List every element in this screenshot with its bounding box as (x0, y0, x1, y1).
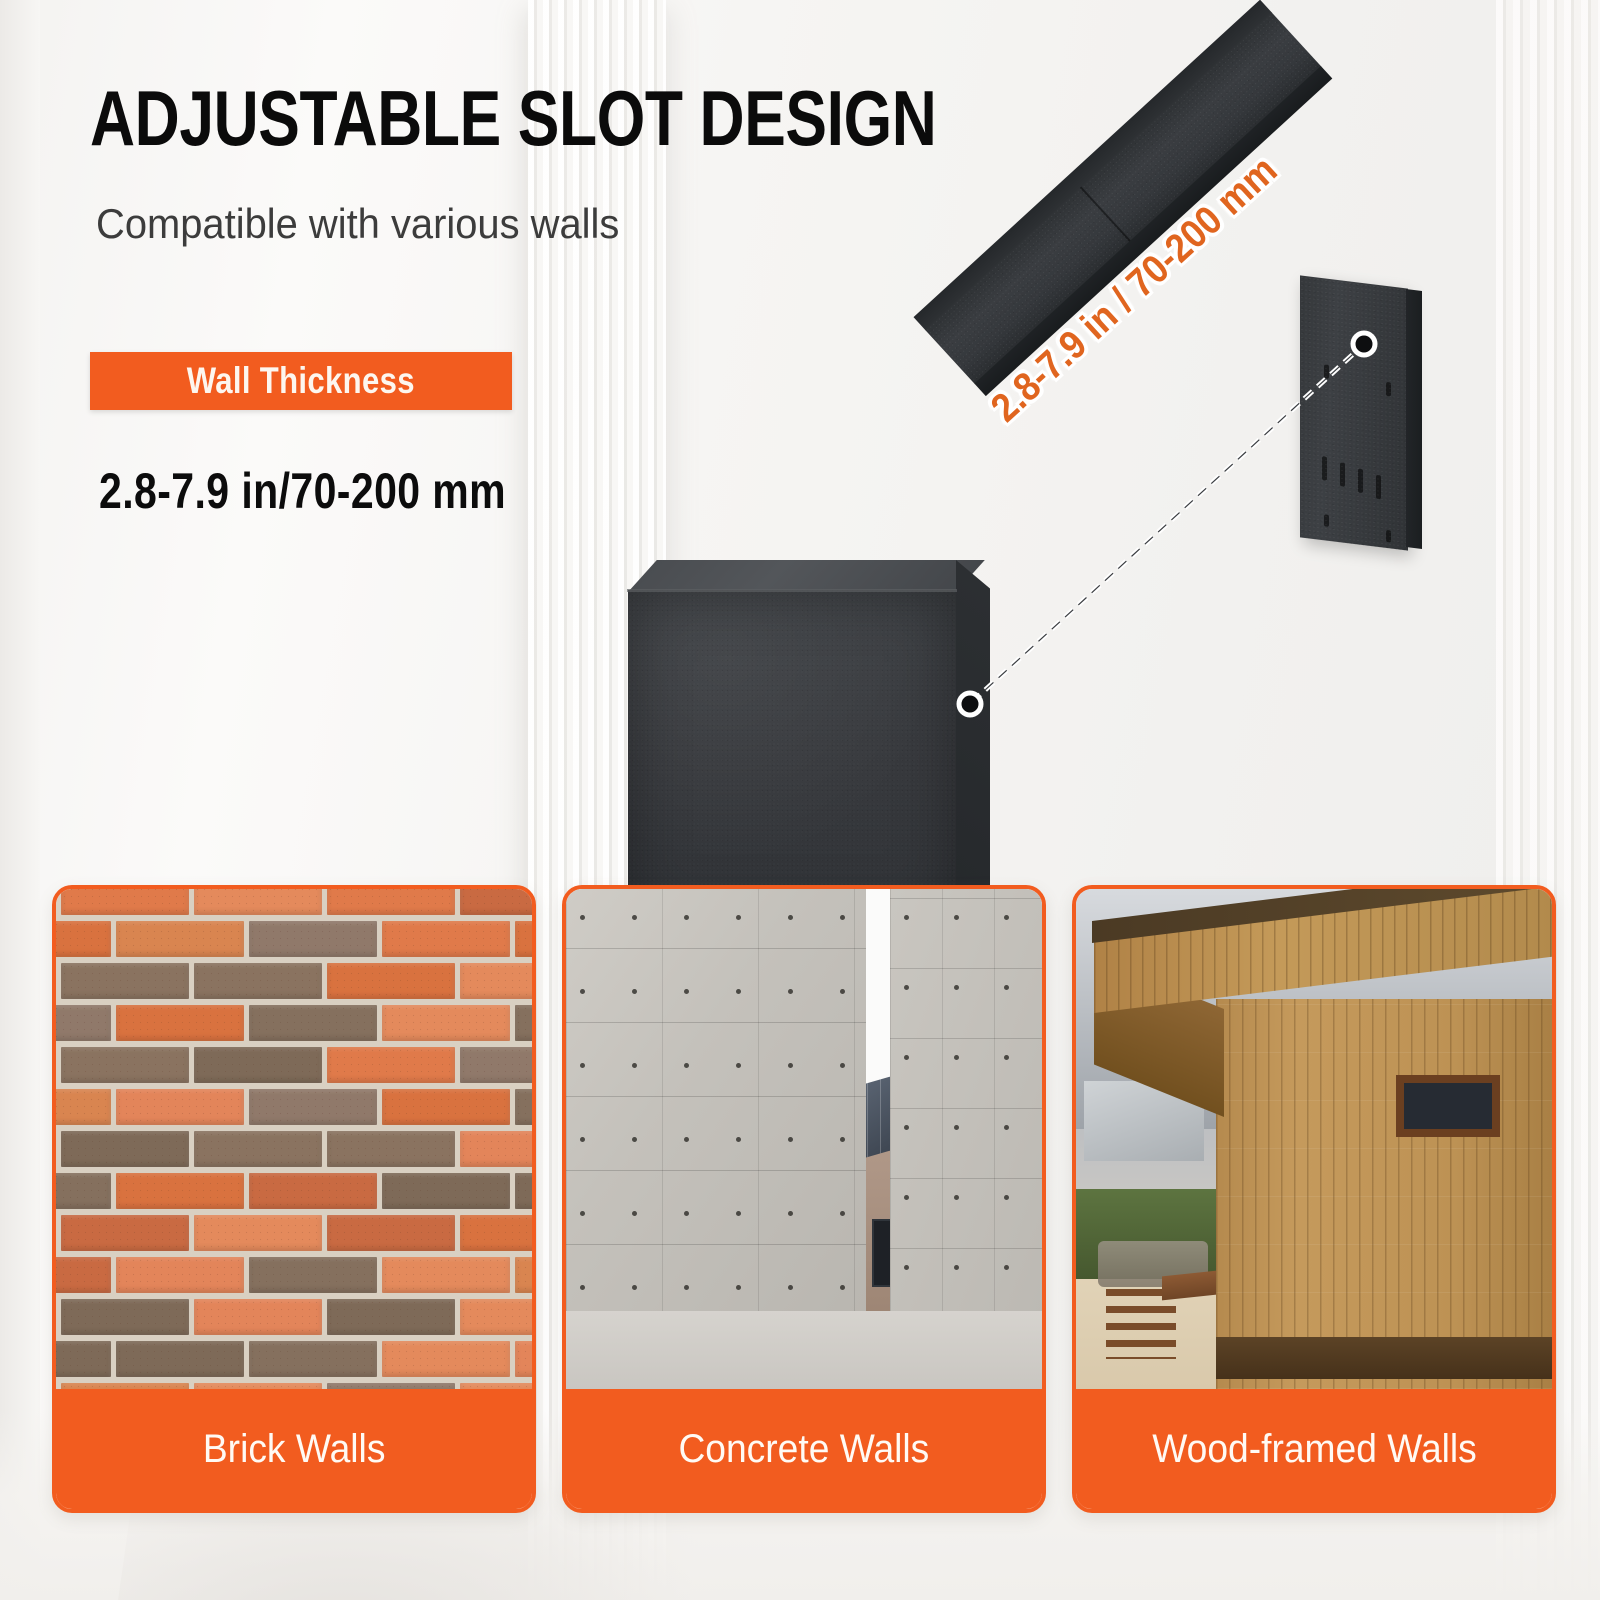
page-subtitle: Compatible with various walls (96, 198, 619, 250)
wall-thickness-badge-label: Wall Thickness (187, 360, 415, 402)
concrete-tie-hole (1004, 1195, 1009, 1200)
concrete-tie-hole (632, 1063, 637, 1068)
card-caption-label: Concrete Walls (679, 1427, 930, 1472)
card-caption-concrete: Concrete Walls (566, 1389, 1042, 1509)
card-caption-label: Brick Walls (203, 1427, 386, 1472)
brick-unit (382, 1089, 510, 1125)
concrete-tie-hole (580, 1285, 585, 1290)
brick-unit (194, 889, 322, 915)
product-illustration: 2.8-7.9 in / 70-200 mm (600, 260, 1420, 920)
concrete-tie-hole (840, 989, 845, 994)
concrete-tie-hole (788, 915, 793, 920)
brick-unit (460, 1047, 532, 1083)
concrete-tie-hole (788, 1063, 793, 1068)
wood-framed-wall-photo (1076, 889, 1552, 1389)
mailbox-top-edge (627, 589, 957, 592)
concrete-tie-hole (904, 1055, 909, 1060)
mailbox-body (628, 590, 956, 920)
brick-unit (56, 1257, 111, 1293)
concrete-wall-photo (566, 889, 1042, 1389)
brick-unit (327, 963, 455, 999)
brick-unit (194, 1131, 322, 1167)
concrete-tie-hole (684, 1285, 689, 1290)
brick-unit (515, 1341, 532, 1377)
brick-unit (116, 1173, 244, 1209)
brick-unit (382, 1005, 510, 1041)
concrete-tie-hole (632, 915, 637, 920)
concrete-tie-hole (684, 1137, 689, 1142)
concrete-tie-hole (904, 985, 909, 990)
brick-unit (515, 1257, 532, 1293)
brick-unit (249, 1257, 377, 1293)
concrete-tie-hole (1004, 985, 1009, 990)
brick-unit (327, 1215, 455, 1251)
wall-mount-plate-edge (1406, 289, 1422, 549)
brick-unit (116, 1341, 244, 1377)
concrete-tie-hole (840, 915, 845, 920)
brick-unit (249, 1005, 377, 1041)
brick-unit (249, 1173, 377, 1209)
brick-unit (515, 921, 532, 957)
concrete-tie-hole (840, 1063, 845, 1068)
concrete-tie-hole (954, 1125, 959, 1130)
brick-unit (194, 1215, 322, 1251)
concrete-tie-hole (904, 1195, 909, 1200)
concrete-tie-hole (736, 1211, 741, 1216)
brick-unit (56, 1173, 111, 1209)
brick-unit (61, 1299, 189, 1335)
concrete-tie-hole (954, 1195, 959, 1200)
brick-unit (116, 921, 244, 957)
wall-type-card-wood[interactable]: Wood-framed Walls (1072, 885, 1556, 1513)
brick-unit (56, 921, 111, 957)
concrete-tie-hole (736, 1063, 741, 1068)
brick-unit (460, 963, 532, 999)
concrete-tie-hole (632, 1137, 637, 1142)
concrete-tie-hole (632, 1285, 637, 1290)
brick-unit (460, 1131, 532, 1167)
brick-wall-photo (56, 889, 532, 1389)
brick-unit (327, 1299, 455, 1335)
concrete-tie-hole (788, 989, 793, 994)
card-caption-label: Wood-framed Walls (1152, 1427, 1477, 1472)
concrete-tie-hole (904, 1125, 909, 1130)
card-caption-wood: Wood-framed Walls (1076, 1389, 1552, 1509)
concrete-tie-hole (580, 1063, 585, 1068)
concrete-tie-hole (736, 915, 741, 920)
concrete-tie-hole (840, 1285, 845, 1290)
brick-unit (61, 963, 189, 999)
concrete-tie-hole (788, 1285, 793, 1290)
brick-unit (327, 1131, 455, 1167)
card-caption-brick: Brick Walls (56, 1389, 532, 1509)
concrete-tie-hole (840, 1137, 845, 1142)
wall-type-card-concrete[interactable]: Concrete Walls (562, 885, 1046, 1513)
concrete-tie-hole (954, 1055, 959, 1060)
wall-type-cards: Brick Walls Concrete Walls (0, 885, 1600, 1510)
brick-unit (56, 1089, 111, 1125)
brick-unit (56, 1341, 111, 1377)
concrete-tie-hole (788, 1211, 793, 1216)
brick-unit (249, 921, 377, 957)
concrete-tie-hole (580, 1211, 585, 1216)
concrete-tie-hole (632, 989, 637, 994)
concrete-tie-hole (954, 1265, 959, 1270)
brick-unit (515, 1089, 532, 1125)
brick-unit (515, 1173, 532, 1209)
brick-unit (194, 963, 322, 999)
mailbox-top-face (628, 560, 985, 592)
concrete-tie-hole (736, 989, 741, 994)
concrete-tie-hole (632, 1211, 637, 1216)
concrete-tie-hole (684, 1211, 689, 1216)
concrete-tie-hole (736, 1285, 741, 1290)
wall-thickness-badge: Wall Thickness (90, 352, 512, 410)
brick-unit (327, 1047, 455, 1083)
brick-unit (460, 889, 532, 915)
concrete-tie-hole (954, 985, 959, 990)
concrete-tie-hole (840, 1211, 845, 1216)
brick-unit (249, 1341, 377, 1377)
concrete-tie-hole (1004, 1125, 1009, 1130)
concrete-tie-hole (954, 915, 959, 920)
concrete-tie-hole (904, 1265, 909, 1270)
brick-unit (194, 1299, 322, 1335)
wall-mount-plate (1300, 275, 1408, 550)
concrete-tie-hole (684, 989, 689, 994)
wall-type-card-brick[interactable]: Brick Walls (52, 885, 536, 1513)
concrete-tie-hole (904, 915, 909, 920)
brick-unit (327, 889, 455, 915)
concrete-tie-hole (1004, 1265, 1009, 1270)
brick-unit (382, 921, 510, 957)
brick-unit (56, 1005, 111, 1041)
brick-unit (61, 889, 189, 915)
concrete-tie-hole (684, 915, 689, 920)
brick-unit (194, 1047, 322, 1083)
brick-unit (116, 1257, 244, 1293)
page-title: ADJUSTABLE SLOT DESIGN (90, 78, 936, 158)
brick-unit (116, 1005, 244, 1041)
concrete-tie-hole (788, 1137, 793, 1142)
brick-unit (382, 1173, 510, 1209)
wall-thickness-value: 2.8-7.9 in/70-200 mm (99, 462, 506, 520)
concrete-tie-hole (736, 1137, 741, 1142)
mailbox-side-face (956, 560, 990, 919)
concrete-tie-hole (684, 1063, 689, 1068)
concrete-tie-hole (580, 915, 585, 920)
brick-unit (61, 1131, 189, 1167)
brick-unit (116, 1089, 244, 1125)
brick-unit (382, 1341, 510, 1377)
infographic-canvas: ADJUSTABLE SLOT DESIGN Compatible with v… (0, 0, 1600, 1600)
concrete-tie-hole (580, 989, 585, 994)
concrete-tie-hole (1004, 915, 1009, 920)
brick-unit (382, 1257, 510, 1293)
concrete-tie-hole (580, 1137, 585, 1142)
brick-unit (249, 1089, 377, 1125)
concrete-tie-hole (1004, 1055, 1009, 1060)
brick-unit (460, 1299, 532, 1335)
brick-unit (515, 1005, 532, 1041)
brick-unit (460, 1215, 532, 1251)
brick-unit (61, 1047, 189, 1083)
brick-unit (61, 1215, 189, 1251)
